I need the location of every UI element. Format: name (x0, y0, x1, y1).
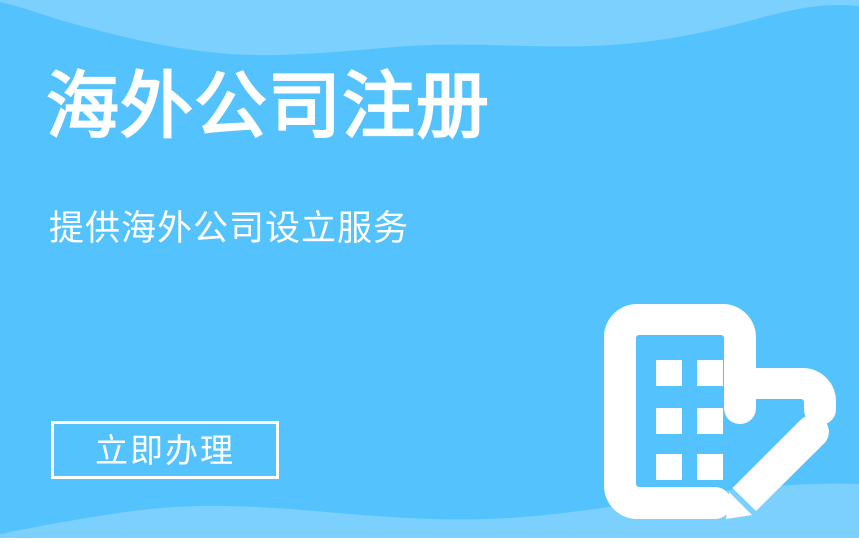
page-subtitle: 提供海外公司设立服务 (49, 207, 409, 253)
apply-now-button-label: 立即办理 (95, 434, 235, 467)
overseas-company-registration-banner: 海外公司注册 提供海外公司设立服务 立即办理 (0, 0, 859, 542)
page-title: 海外公司注册 (46, 62, 490, 151)
bottom-edge-strip (0, 538, 859, 542)
building-with-pencil-icon (604, 304, 836, 519)
apply-now-button[interactable]: 立即办理 (51, 421, 279, 479)
